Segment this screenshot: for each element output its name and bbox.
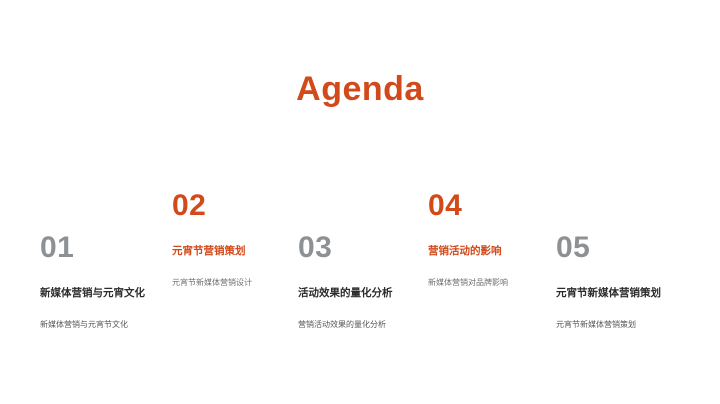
agenda-item-heading: 活动效果的量化分析: [298, 287, 448, 300]
agenda-item-heading: 元宵节新媒体营销策划: [556, 287, 706, 300]
agenda-item-03[interactable]: 03 活动效果的量化分析 营销活动效果的量化分析: [298, 233, 448, 329]
agenda-item-05[interactable]: 05 元宵节新媒体营销策划 元宵节新媒体营销策划: [556, 233, 706, 329]
agenda-item-heading: 新媒体营销与元宵文化: [40, 287, 190, 300]
agenda-item-01[interactable]: 01 新媒体营销与元宵文化 新媒体营销与元宵节文化: [40, 233, 190, 329]
page-title: Agenda: [0, 70, 720, 109]
agenda-item-description: 新媒体营销与元宵节文化: [40, 320, 190, 330]
agenda-item-number: 05: [556, 233, 706, 263]
agenda-item-number: 03: [298, 233, 448, 263]
slide-canvas: Agenda 01 新媒体营销与元宵文化 新媒体营销与元宵节文化 02 元宵节营…: [0, 0, 720, 404]
agenda-item-description: 元宵节新媒体营销策划: [556, 320, 706, 330]
agenda-item-number: 02: [172, 191, 322, 221]
agenda-item-number: 01: [40, 233, 190, 263]
agenda-item-number: 04: [428, 191, 578, 221]
agenda-item-description: 营销活动效果的量化分析: [298, 320, 448, 330]
agenda-list: 01 新媒体营销与元宵文化 新媒体营销与元宵节文化 02 元宵节营销策划 元宵节…: [0, 185, 720, 355]
